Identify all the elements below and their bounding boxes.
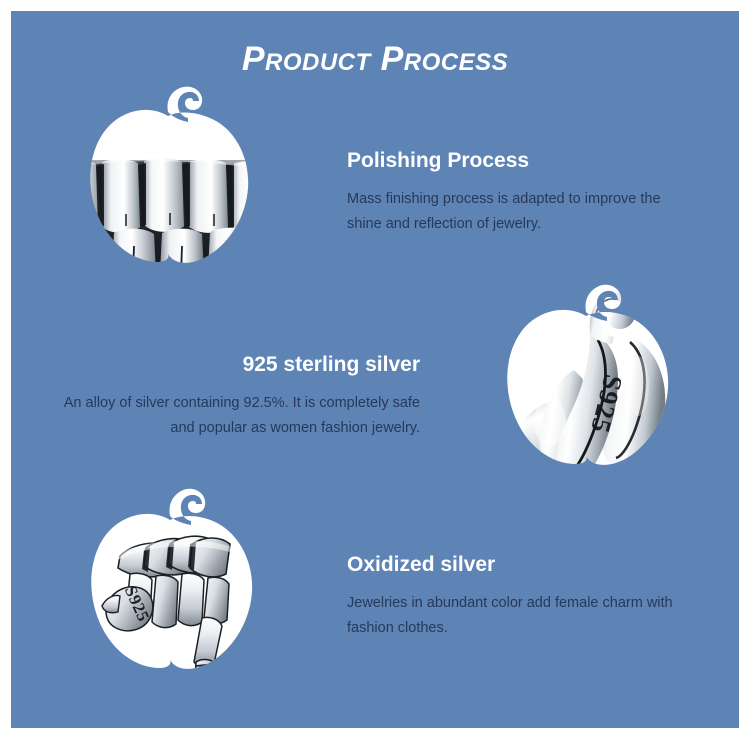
- section-heading-polishing: Polishing Process: [347, 148, 697, 174]
- section-heading-sterling: 925 sterling silver: [52, 352, 420, 378]
- section-body-sterling: An alloy of silver containing 92.5%. It …: [52, 391, 420, 441]
- page-title: Product Process: [0, 42, 750, 78]
- product-process-infographic: Product Process: [0, 0, 750, 750]
- section-text-oxidized: Oxidized silver Jewelries in abundant co…: [347, 552, 697, 641]
- product-image-oxidized: S925: [62, 478, 278, 694]
- product-image-sterling: S925: [478, 274, 694, 490]
- section-body-oxidized: Jewelries in abundant color add female c…: [347, 591, 697, 641]
- section-text-polishing: Polishing Process Mass finishing process…: [347, 148, 697, 237]
- product-image-polishing: [62, 76, 274, 288]
- section-heading-oxidized: Oxidized silver: [347, 552, 697, 578]
- section-body-polishing: Mass finishing process is adapted to imp…: [347, 187, 697, 237]
- section-text-sterling: 925 sterling silver An alloy of silver c…: [52, 352, 420, 441]
